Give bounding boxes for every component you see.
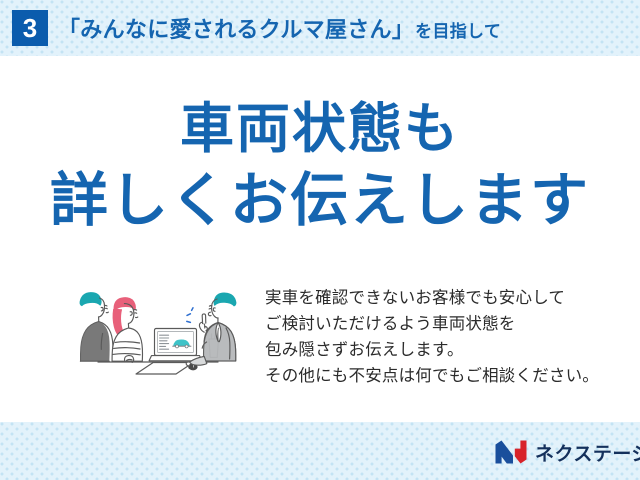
document (136, 363, 193, 374)
brand-logo: ネクステージ (494, 438, 640, 466)
header-title: 「みんなに愛されるクルマ屋さん」 を目指して (58, 12, 501, 46)
body-copy-line-2: ご検討いただけるよう車両状態を (265, 311, 615, 337)
header-title-main: 「みんなに愛されるクルマ屋さん」 (58, 12, 414, 44)
headline-line-1: 車両状態も (0, 98, 640, 161)
promo-slide: 3 「みんなに愛されるクルマ屋さん」 を目指して 車両状態も 詳しくお伝えします (0, 0, 640, 480)
body-copy-line-3: 包み隠さずお伝えします。 (265, 337, 615, 363)
speech-marks (187, 308, 193, 323)
consultation-illustration (58, 276, 258, 394)
body-copy-line-1: 実車を確認できないお客様でも安心して (265, 285, 615, 311)
headline: 車両状態も 詳しくお伝えします (0, 98, 640, 234)
laptop (149, 329, 202, 361)
brand-wordmark: ネクステージ (535, 439, 640, 466)
step-number-badge: 3 (12, 10, 48, 46)
customer-woman (112, 298, 142, 363)
nextage-n-mark-icon (494, 439, 528, 465)
body-copy: 実車を確認できないお客様でも安心して ご検討いただけるよう車両状態を 包み隠さず… (265, 285, 615, 389)
header-title-suffix: を目指して (415, 17, 501, 42)
consultation-illustration-svg (58, 276, 258, 394)
body-copy-line-4: その他にも不安点は何でもご相談ください。 (265, 363, 615, 389)
headline-line-2: 詳しくお伝えします (0, 167, 640, 234)
